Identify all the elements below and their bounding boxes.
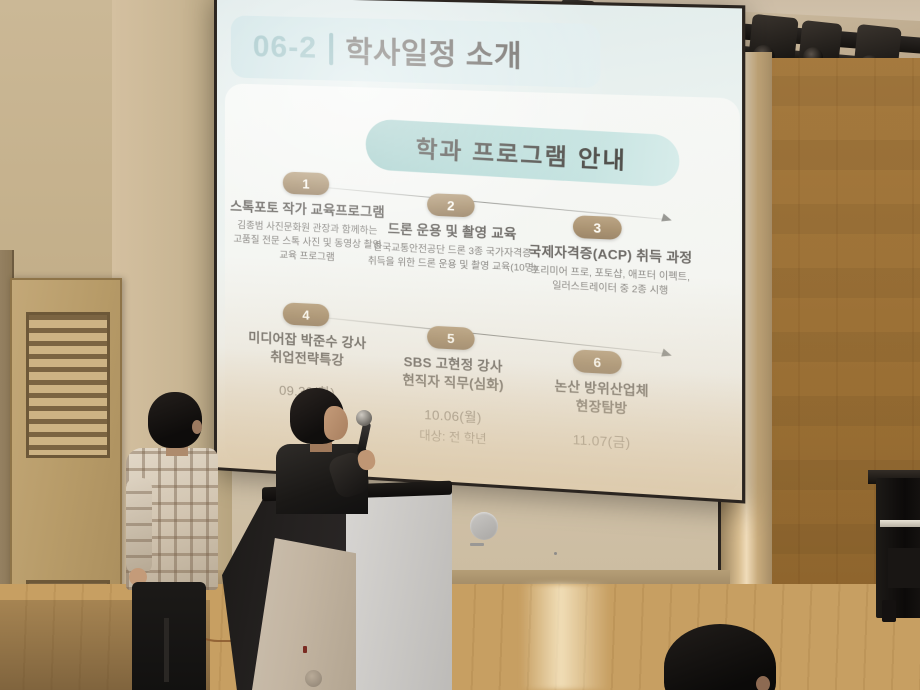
leg-separation — [164, 618, 169, 682]
piano-bench — [888, 548, 920, 588]
podium-slot — [470, 543, 484, 546]
badge-label: 4 — [302, 307, 309, 322]
title-separator — [329, 33, 333, 65]
trousers — [132, 582, 206, 690]
face-profile — [324, 406, 348, 440]
podium-screw — [554, 552, 557, 555]
slide-header-title: 학사일정 소개 — [345, 28, 522, 75]
timeline-badge-4: 4 — [283, 302, 329, 326]
person-speaking — [280, 388, 372, 508]
person-standing-left — [126, 392, 218, 690]
badge-label: 2 — [447, 197, 454, 213]
louver-vent-icon — [26, 312, 110, 458]
slide-heading-text: 학과 프로그램 안내 — [415, 129, 627, 176]
left-arm — [126, 478, 152, 574]
ear — [192, 420, 202, 434]
timeline-badge-6: 6 — [573, 349, 622, 374]
audience-ear — [756, 676, 770, 690]
program-item-6: 논산 방위산업체 현장탐방 11.07(금) — [523, 375, 682, 454]
program-item-3: 국제자격증(ACP) 취득 과정 프리미어 프로, 포토샵, 애프터 이펙트, … — [510, 241, 712, 301]
slide-section-number: 06-2 — [253, 30, 317, 66]
piano-keys — [880, 520, 920, 527]
badge-label: 1 — [302, 176, 309, 191]
floor-light-reflection — [520, 584, 610, 690]
auditorium-scene: 06-2 학사일정 소개 학과 프로그램 안내 1 2 — [0, 0, 920, 690]
podium-indicator-light — [303, 646, 307, 653]
microphone-icon — [356, 410, 372, 426]
timeline-badge-2: 2 — [427, 193, 475, 217]
podium-control-dial[interactable] — [470, 512, 498, 540]
timeline-badge-3: 3 — [573, 215, 622, 240]
badge-label: 6 — [593, 354, 601, 370]
podium — [222, 484, 452, 690]
badge-label: 3 — [593, 220, 601, 236]
podium-side-panel — [342, 490, 452, 690]
podium-speaker-icon — [305, 670, 322, 687]
badge-label: 5 — [447, 330, 454, 346]
program-item-5: SBS 고현정 강사 현직자 직무(심화) 10.06(월) 대상: 전 학년 — [376, 351, 531, 450]
timeline-badge-5: 5 — [427, 326, 475, 351]
timeline-badge-1: 1 — [283, 172, 329, 196]
slide-header-pill: 06-2 학사일정 소개 — [231, 15, 601, 88]
